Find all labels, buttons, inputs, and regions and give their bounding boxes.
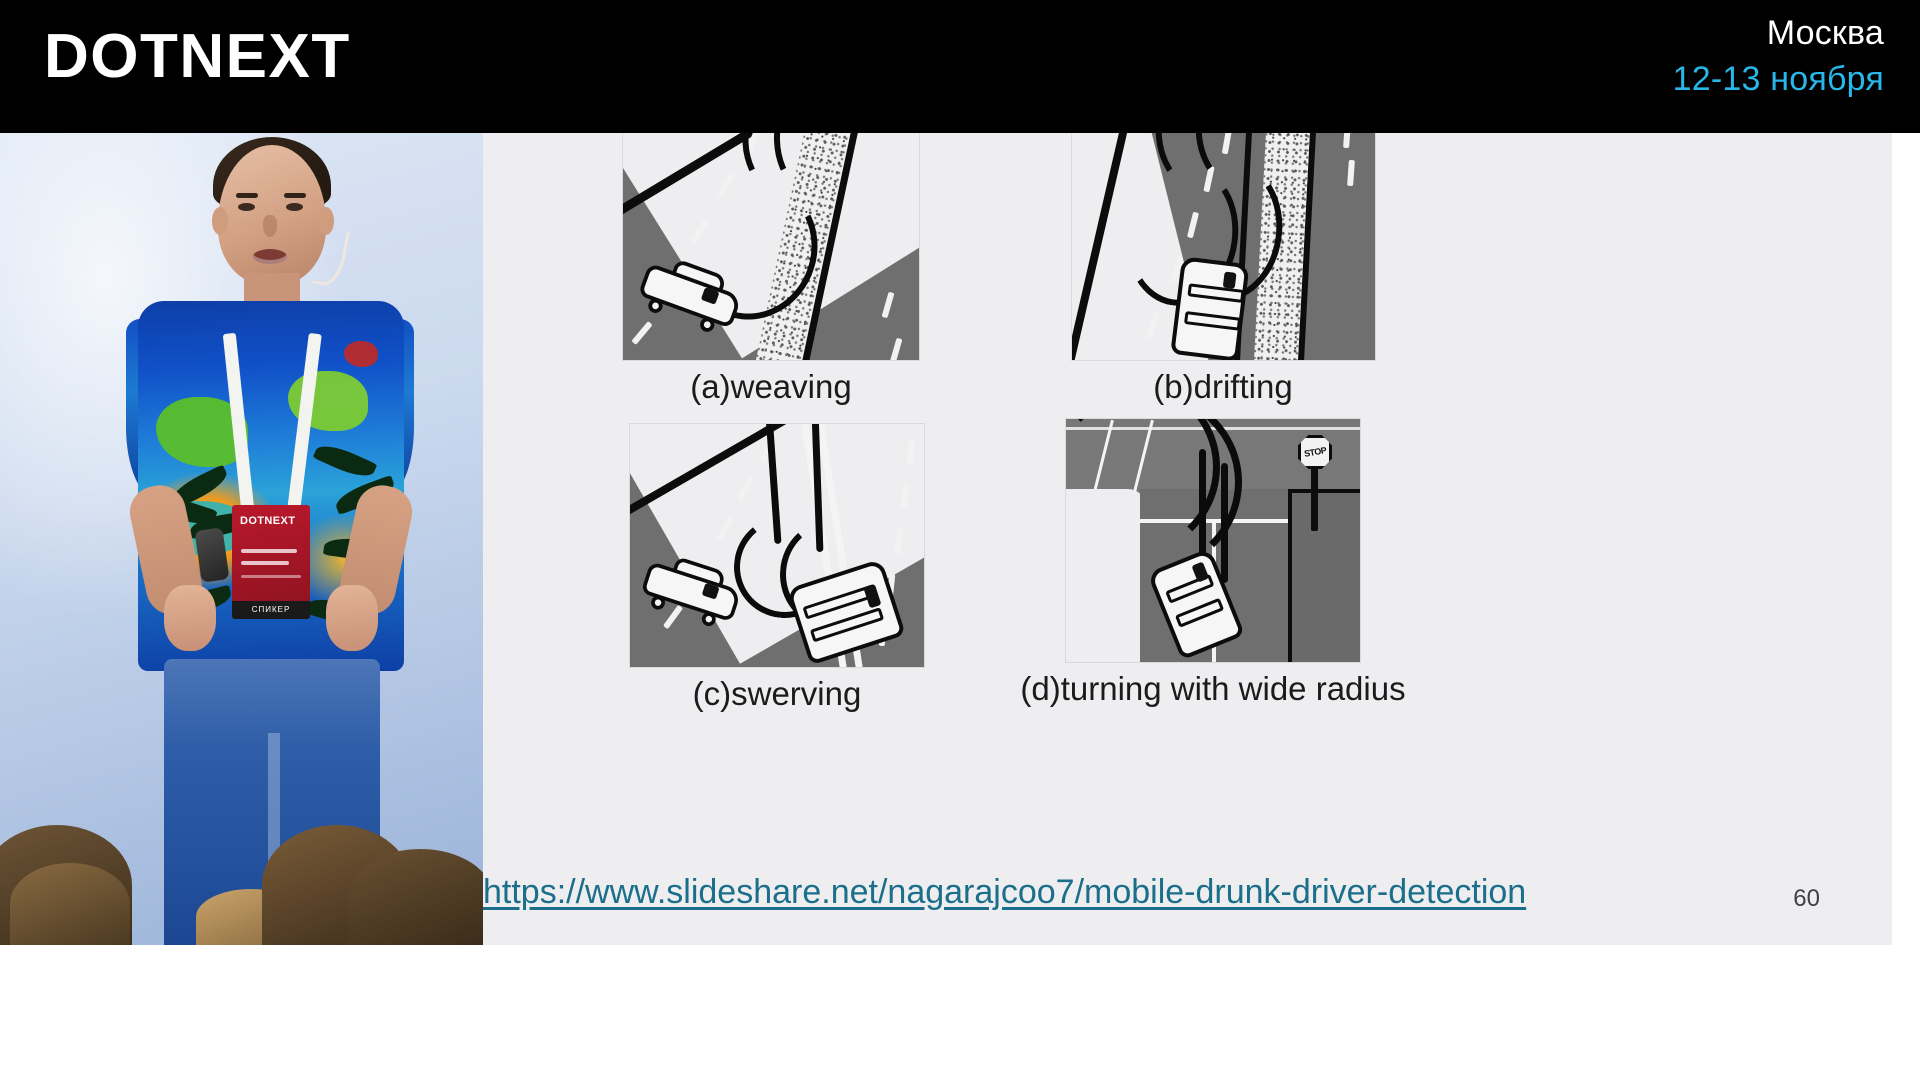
trajectory-turn-inner-tail (1221, 463, 1228, 583)
speaker-nose (263, 215, 277, 237)
lane-dash (631, 321, 652, 345)
speaker-hand-right (326, 585, 378, 651)
badge-role-label: СПИКЕР (232, 601, 310, 619)
slide-footer: https://www.slideshare.net/nagarajcoo7/m… (483, 873, 1892, 933)
lane-dash (890, 338, 903, 361)
speaker-brow-left (236, 193, 258, 198)
stop-sign-pole (1311, 461, 1318, 531)
conference-header-bar: DOTNEXT Москва 12-13 ноября (0, 0, 1920, 133)
header-event-info: Москва 12-13 ноября (1673, 12, 1884, 101)
road-edge-right (1288, 489, 1292, 663)
speaker-video-panel: DOTNEXT СПИКЕР (0, 133, 483, 945)
figure-caption-drifting: (b)drifting (1023, 369, 1423, 405)
car-window (1222, 272, 1236, 289)
audience-head (10, 863, 130, 945)
source-link[interactable]: https://www.slideshare.net/nagarajcoo7/m… (483, 873, 1526, 912)
audience-head (348, 849, 483, 945)
speaker-brow-right (284, 193, 306, 198)
figure-cell-drifting: (b)drifting (1023, 133, 1423, 405)
figure-caption-turning: (d)turning with wide radius (1013, 671, 1413, 707)
shirt-palm-frond-4 (313, 439, 378, 482)
speaker-badge: DOTNEXT СПИКЕР (232, 505, 310, 619)
badge-logo-text: DOTNEXT (240, 515, 295, 527)
figure-grid: (a)weaving (483, 133, 1892, 863)
slide-recording-frame: DOTNEXT Москва 12-13 ноября (0, 0, 1920, 1080)
speaker-mouth (253, 249, 287, 264)
curb-edge-horizontal (1288, 489, 1361, 493)
page-number: 60 (1793, 885, 1820, 913)
dotnext-logo: DOTNEXT (44, 26, 351, 88)
shirt-pattern-red-1 (344, 341, 378, 367)
lane-dash (1343, 133, 1351, 148)
speaker-eye-left (238, 203, 255, 211)
figure-image-swerving (629, 423, 925, 668)
car-drifting (1170, 256, 1249, 361)
lane-dash (1347, 160, 1355, 186)
figure-image-turning: STOP (1065, 418, 1361, 663)
badge-name-line-2 (241, 561, 289, 565)
side-area-right (1290, 489, 1361, 663)
badge-name-line-1 (241, 549, 297, 553)
badge-company-line (241, 575, 301, 578)
stop-sign-label: STOP (1303, 445, 1327, 459)
figure-caption-swerving: (c)swerving (577, 676, 977, 712)
figure-image-drifting (1071, 133, 1376, 361)
speaker-figure: DOTNEXT СПИКЕР (120, 133, 420, 945)
figure-cell-weaving: (a)weaving (571, 133, 971, 405)
speaker-ear-left (212, 207, 228, 235)
figure-image-weaving (622, 133, 920, 361)
presentation-slide: (a)weaving (483, 133, 1892, 945)
event-dates-label: 12-13 ноября (1673, 58, 1884, 102)
figure-cell-swerving: (c)swerving (577, 423, 977, 712)
speaker-hand-left (164, 585, 216, 651)
figure-caption-weaving: (a)weaving (571, 369, 971, 405)
car-body (1170, 256, 1249, 361)
figure-cell-turning: STOP (d)turning with wide radius (1013, 418, 1413, 707)
event-city-label: Москва (1673, 12, 1884, 56)
lane-dash (882, 292, 895, 319)
speaker-eye-right (286, 203, 303, 211)
